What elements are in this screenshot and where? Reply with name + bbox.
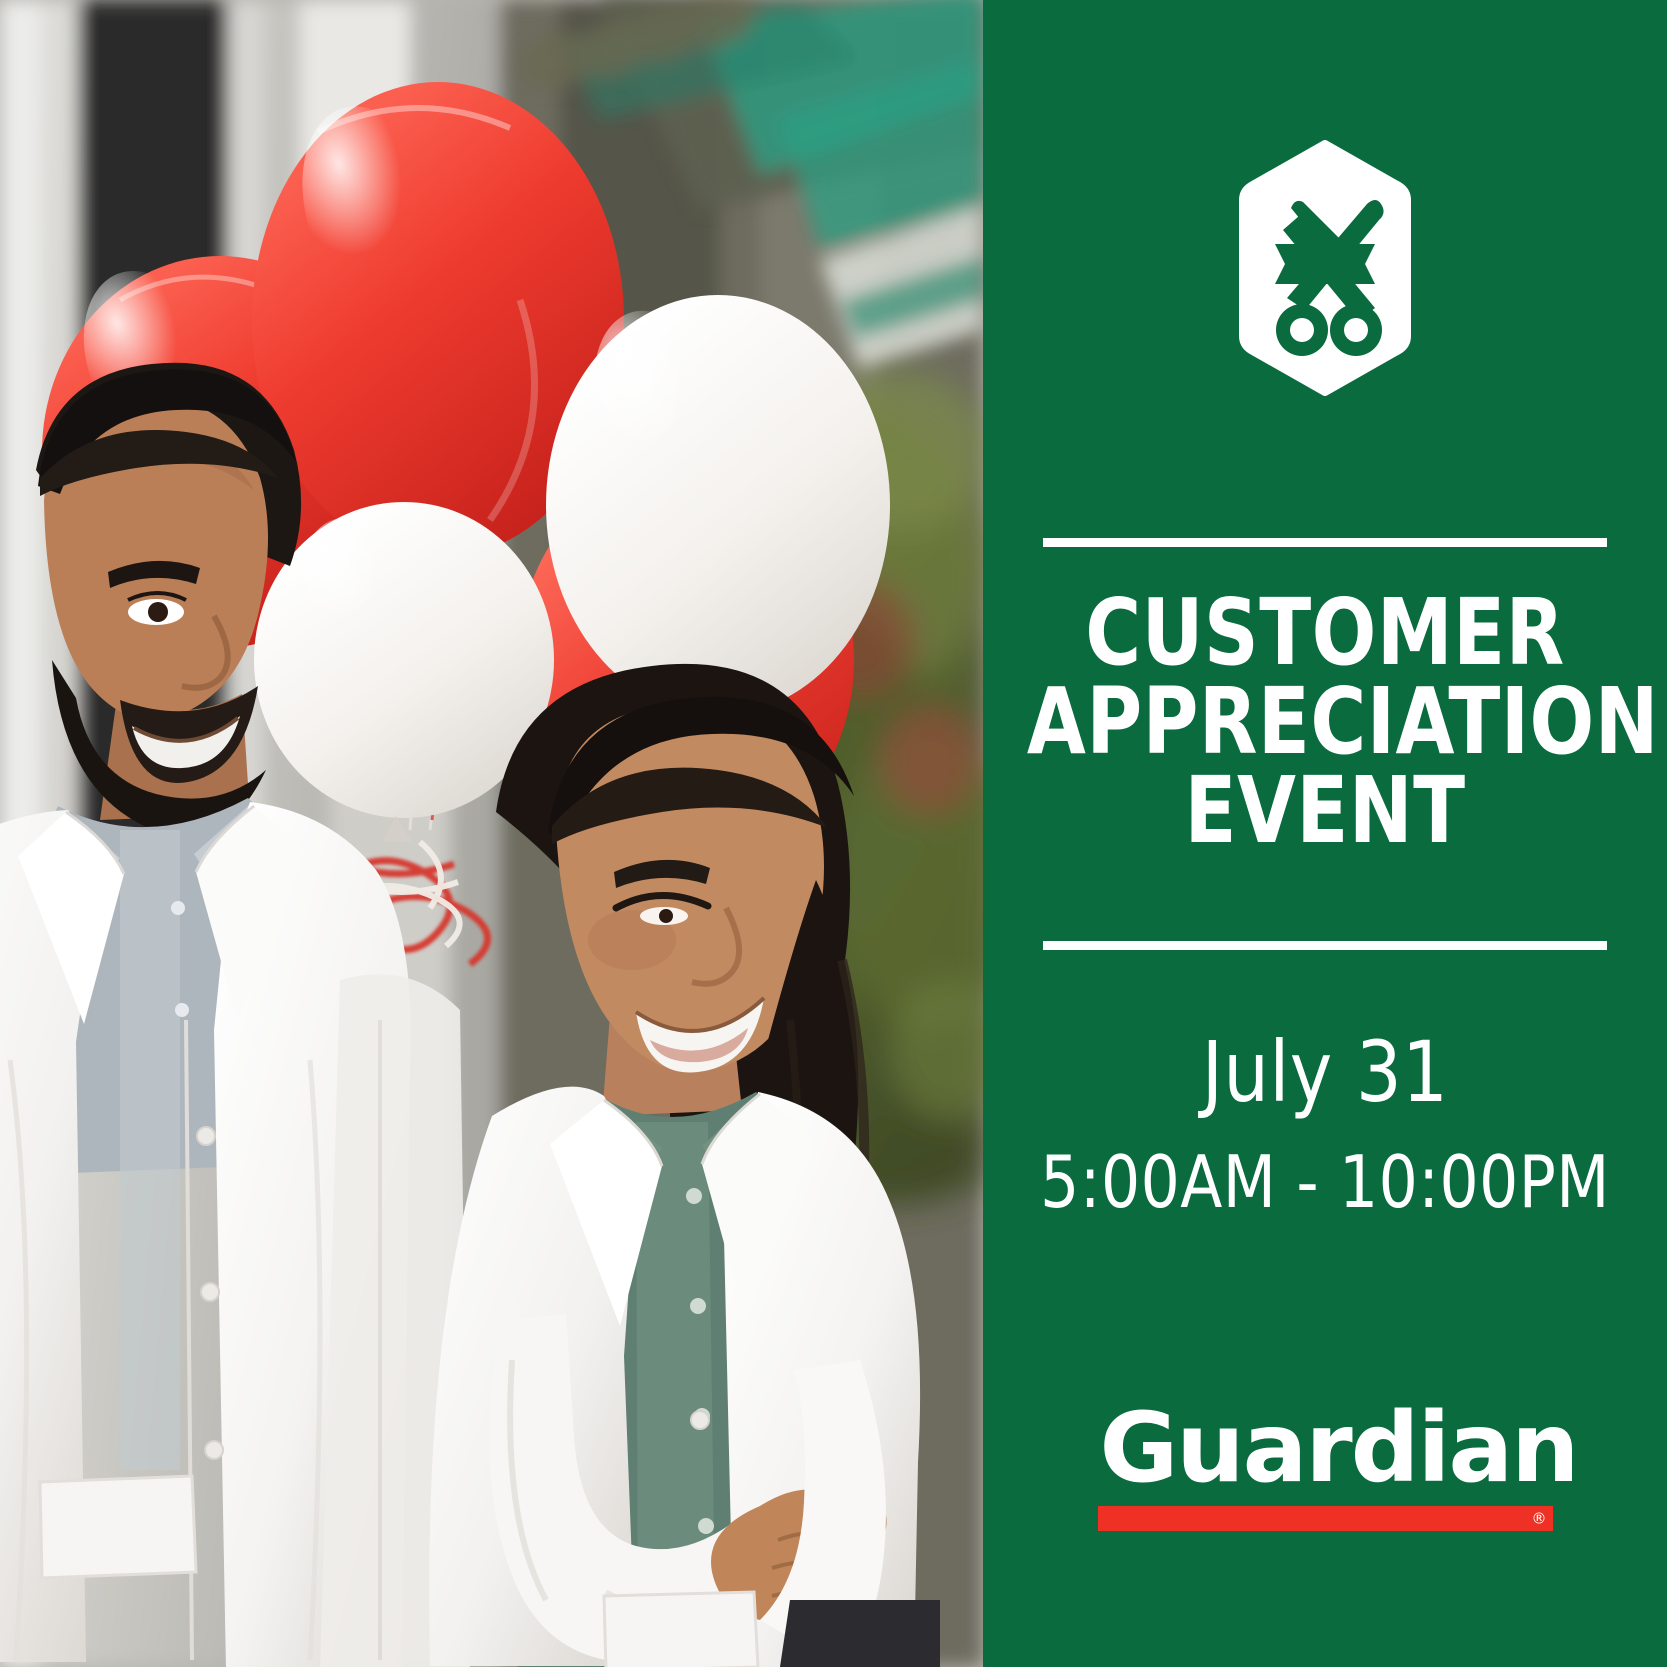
brand-logo: Guardian ® — [983, 1400, 1667, 1531]
event-time: 5:00AM - 10:00PM — [1017, 1146, 1633, 1218]
event-photo — [0, 0, 983, 1667]
promotional-poster: CUSTOMER APPRECIATION EVENT July 31 5:00… — [0, 0, 1667, 1667]
headline-line-2: APPRECIATION — [1027, 677, 1623, 766]
headline-line-1: CUSTOMER — [1027, 588, 1623, 677]
brand-logo-inner: Guardian ® — [1098, 1400, 1553, 1531]
brand-wordmark: Guardian — [1098, 1400, 1553, 1496]
registered-trademark-icon: ® — [1532, 1511, 1547, 1526]
page-title: CUSTOMER APPRECIATION EVENT — [1027, 588, 1623, 856]
info-panel: CUSTOMER APPRECIATION EVENT July 31 5:00… — [983, 0, 1667, 1667]
divider-top — [1043, 538, 1607, 547]
event-datetime: July 31 5:00AM - 10:00PM — [1001, 1030, 1649, 1218]
brand-logo-bar: ® — [1098, 1506, 1553, 1531]
event-date: July 31 — [1017, 1030, 1633, 1114]
badge-container — [983, 140, 1667, 396]
event-photo-illustration — [0, 0, 983, 1667]
ribbon-cutting-scissors-hexagon-icon — [1239, 140, 1411, 396]
divider-bottom — [1043, 941, 1607, 950]
headline-line-3: EVENT — [1027, 766, 1623, 855]
